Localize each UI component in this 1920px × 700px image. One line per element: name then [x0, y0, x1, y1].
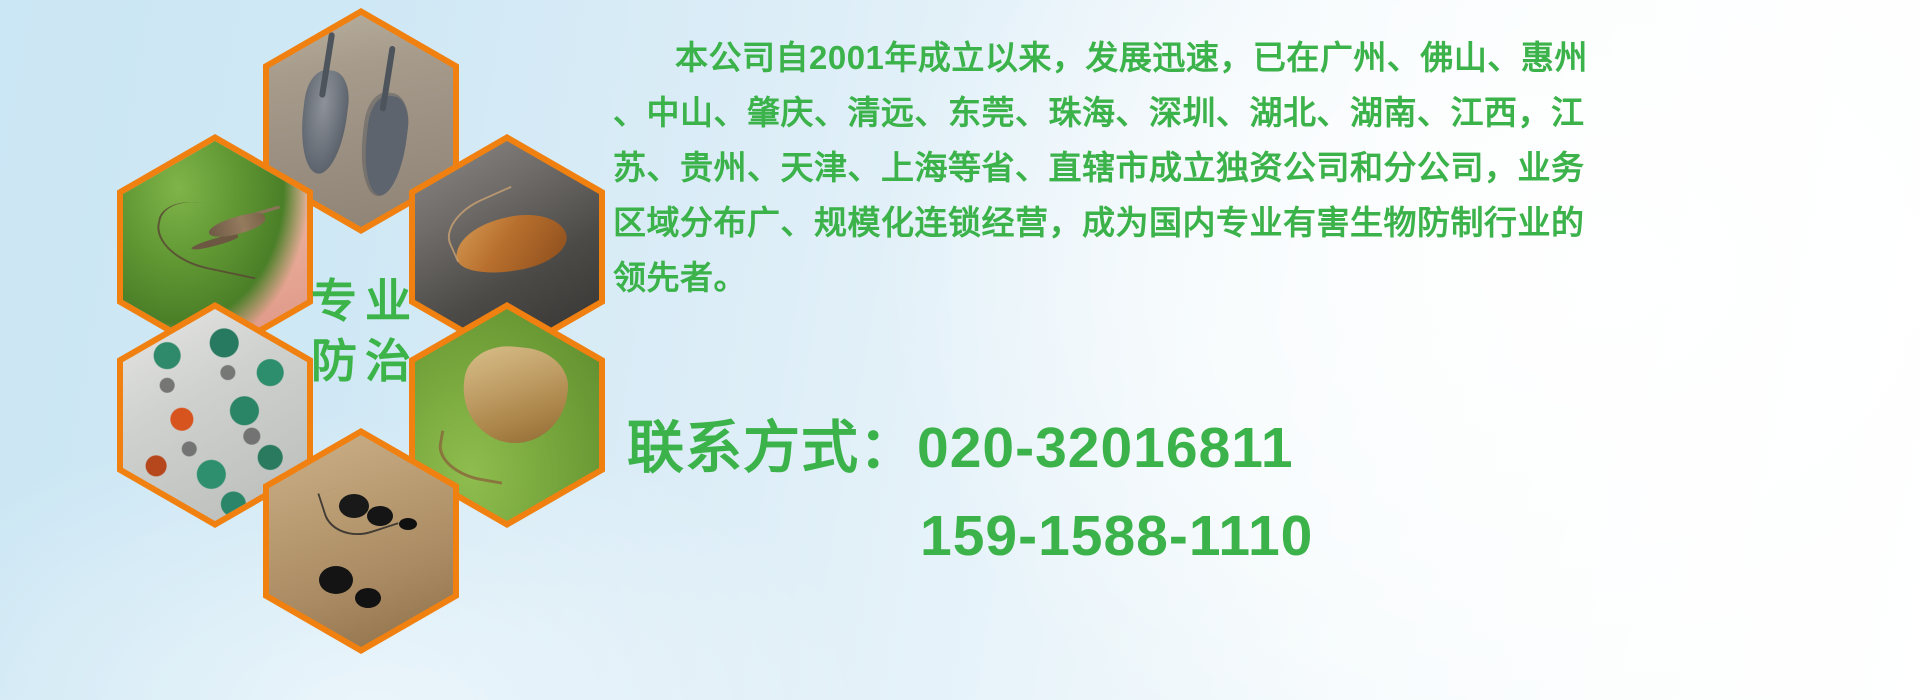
ants-photo — [269, 435, 453, 647]
hex-inner-ants — [269, 435, 453, 647]
promo-banner: 专业 防治 本公司自2001年成立以来，发展迅速，已在广州、佛山、惠州 、中山、… — [0, 0, 1920, 700]
company-intro-paragraph: 本公司自2001年成立以来，发展迅速，已在广州、佛山、惠州 、中山、肇庆、清远、… — [613, 30, 1873, 305]
contact-block: 联系方式：020-32016811 159-1588-1110 — [627, 404, 1887, 580]
intro-line-3: 苏、贵州、天津、上海等省、直辖市成立独资公司和分公司，业务 — [613, 140, 1873, 195]
contact-secondary-phone[interactable]: 159-1588-1110 — [627, 492, 1887, 580]
center-slogan-line-2: 防治 — [303, 338, 419, 384]
intro-line-5: 领先者。 — [613, 250, 1873, 305]
intro-line-4: 区域分布广、规模化连锁经营，成为国内专业有害生物防制行业的 — [613, 195, 1873, 250]
intro-copy-block: 本公司自2001年成立以来，发展迅速，已在广州、佛山、惠州 、中山、肇庆、清远、… — [613, 30, 1873, 305]
intro-line-1: 本公司自2001年成立以来，发展迅速，已在广州、佛山、惠州 — [613, 30, 1873, 85]
honeycomb-photo-collage: 专业 防治 — [95, 6, 595, 586]
center-slogan-line-1: 专业 — [303, 278, 419, 324]
intro-line-2: 、中山、肇庆、清远、东莞、珠海、深圳、湖北、湖南、江西，江 — [613, 85, 1873, 140]
contact-primary-phone[interactable]: 联系方式：020-32016811 — [627, 404, 1887, 492]
